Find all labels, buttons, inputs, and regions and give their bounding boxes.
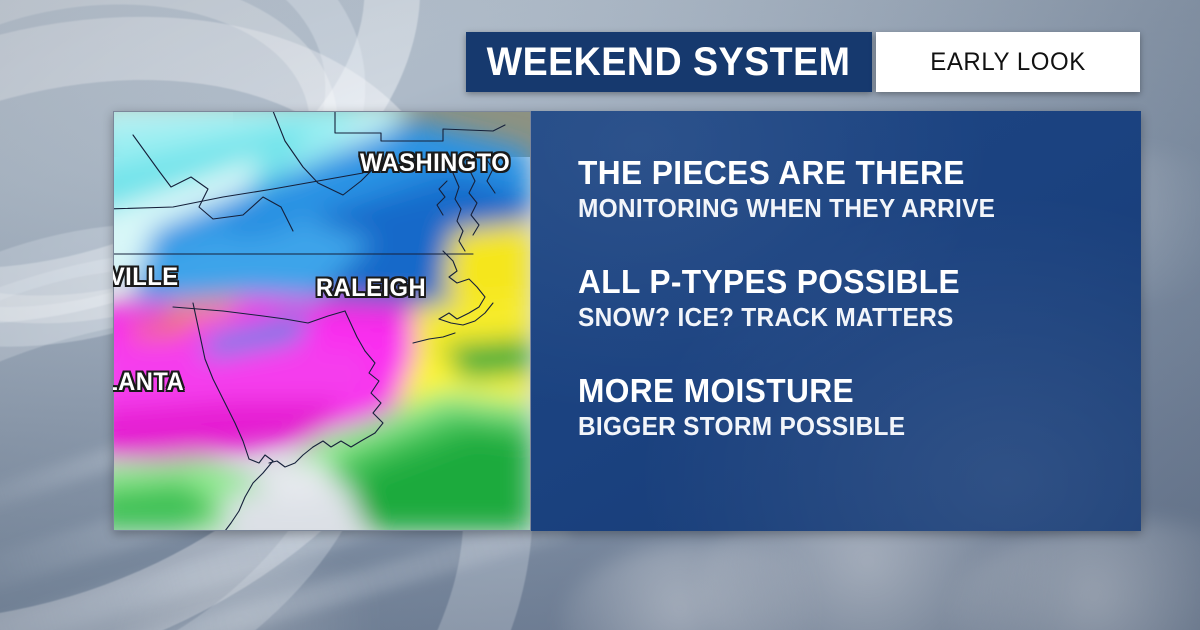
status-badge: EARLY LOOK [930,48,1086,77]
info-block-1-headline: THE PIECES ARE THERE [578,155,1099,192]
info-block-2-headline: ALL P-TYPES POSSIBLE [578,264,1099,301]
info-block-2: ALL P-TYPES POSSIBLE SNOW? ICE? TRACK MA… [578,264,1121,333]
header-badge-box: EARLY LOOK [876,32,1140,92]
map-city-label-atlanta: LANTA [113,368,184,397]
info-block-3-headline: MORE MOISTURE [578,373,1099,410]
info-panel: THE PIECES ARE THERE MONITORING WHEN THE… [531,111,1141,531]
page-title: WEEKEND SYSTEM [487,40,851,85]
info-block-1: THE PIECES ARE THERE MONITORING WHEN THE… [578,155,1121,224]
info-block-3: MORE MOISTURE BIGGER STORM POSSIBLE [578,373,1121,442]
info-block-2-subline: SNOW? ICE? TRACK MATTERS [578,302,1088,333]
weather-map[interactable]: WASHINGTO VILLE RALEIGH LANTA [113,111,531,531]
map-city-label-nashville: VILLE [113,263,179,292]
map-city-label-washington: WASHINGTO [360,149,510,178]
map-city-label-raleigh: RALEIGH [316,274,426,303]
header-bar: WEEKEND SYSTEM EARLY LOOK [466,32,1140,92]
info-block-1-subline: MONITORING WHEN THEY ARRIVE [578,193,1088,224]
info-block-3-subline: BIGGER STORM POSSIBLE [578,411,1088,442]
info-panel-content: THE PIECES ARE THERE MONITORING WHEN THE… [578,155,1121,442]
header-title-box: WEEKEND SYSTEM [466,32,872,92]
content-row: WASHINGTO VILLE RALEIGH LANTA THE PIECES… [113,111,1141,531]
